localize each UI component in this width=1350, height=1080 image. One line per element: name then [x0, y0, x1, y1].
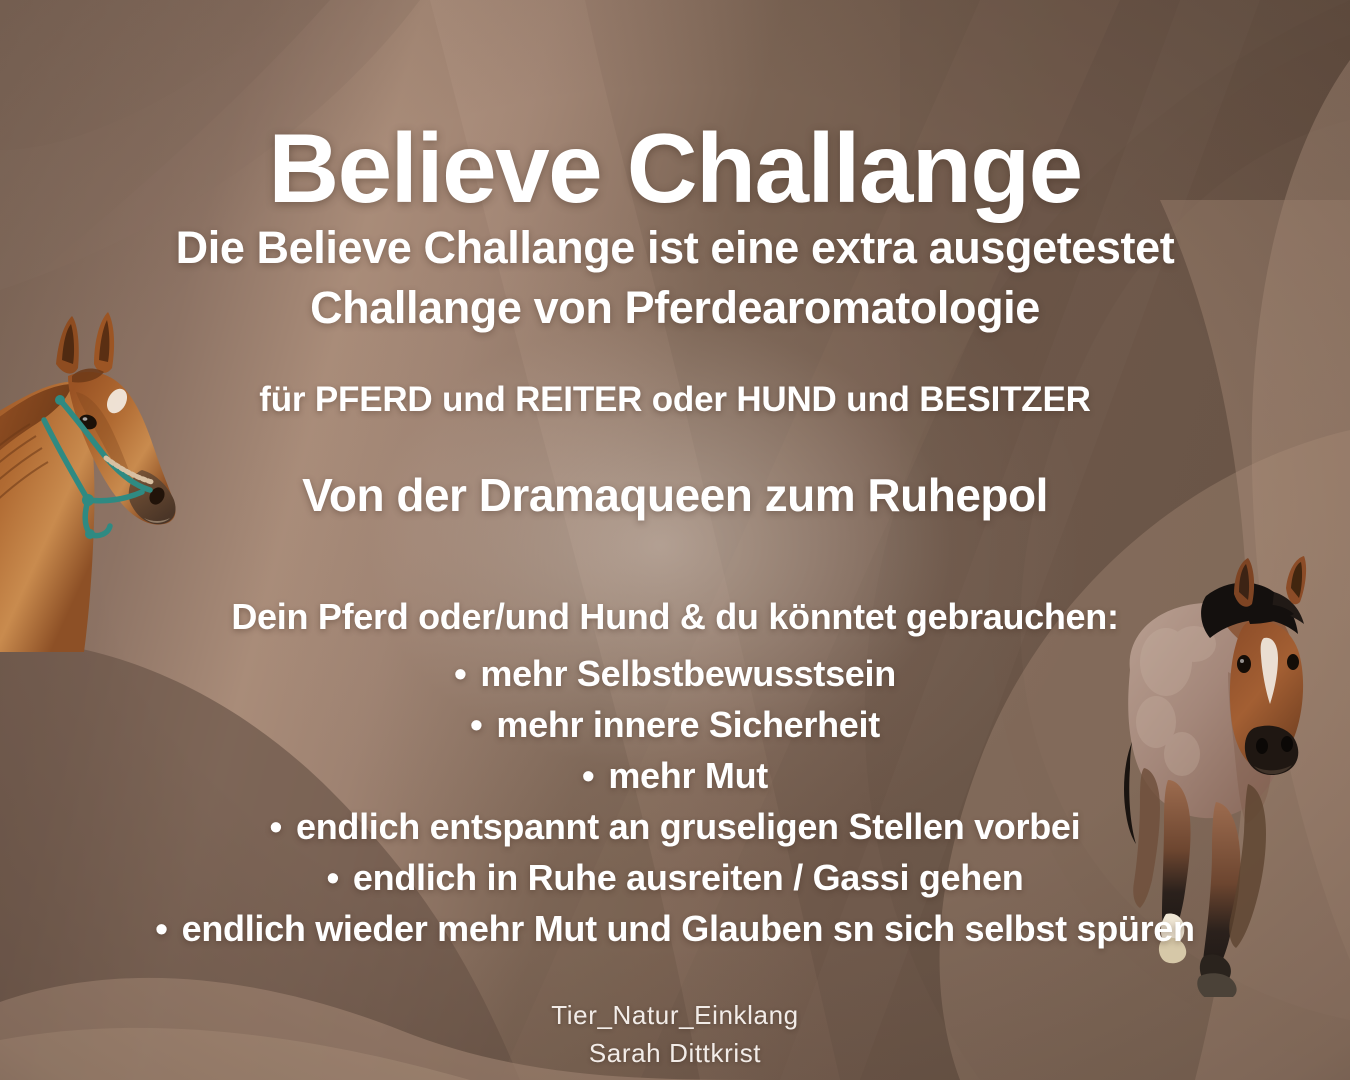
bullet-icon: • — [582, 750, 594, 801]
poster-footer: Tier_Natur_Einklang Sarah Dittkrist — [0, 996, 1350, 1072]
tagline: Von der Dramaqueen zum Ruhepol — [60, 468, 1290, 522]
poster-content: Believe Challange Die Believe Challange … — [0, 0, 1350, 1080]
subtitle-line-1: Die Believe Challange ist eine extra aus… — [72, 218, 1278, 278]
list-item: •mehr Selbstbewusstsein — [0, 648, 1350, 699]
author-name: Sarah Dittkrist — [0, 1034, 1350, 1072]
poster-canvas: Believe Challange Die Believe Challange … — [0, 0, 1350, 1080]
list-item-label: mehr innere Sicherheit — [496, 704, 880, 745]
bullet-icon: • — [454, 648, 466, 699]
poster-subtitle: Die Believe Challange ist eine extra aus… — [72, 218, 1278, 339]
list-item-label: endlich entspannt an gruseligen Stellen … — [296, 806, 1080, 847]
benefits-list: •mehr Selbstbewusstsein •mehr innere Sic… — [0, 648, 1350, 954]
bullet-icon: • — [270, 801, 282, 852]
list-item: •endlich wieder mehr Mut und Glauben sn … — [0, 903, 1350, 954]
list-item-label: endlich wieder mehr Mut und Glauben sn s… — [182, 908, 1195, 949]
audience-line: für PFERD und REITER oder HUND und BESIT… — [60, 380, 1290, 420]
bullet-icon: • — [470, 699, 482, 750]
list-item: •endlich in Ruhe ausreiten / Gassi gehen — [0, 852, 1350, 903]
brand-name: Tier_Natur_Einklang — [0, 996, 1350, 1034]
list-item: •mehr innere Sicherheit — [0, 699, 1350, 750]
list-item-label: mehr Selbstbewusstsein — [480, 653, 896, 694]
bullet-icon: • — [327, 852, 339, 903]
subtitle-line-2: Challange von Pferdearomatologie — [72, 278, 1278, 338]
bullet-icon: • — [155, 903, 167, 954]
list-item-label: mehr Mut — [608, 755, 768, 796]
list-item: •mehr Mut — [0, 750, 1350, 801]
list-item: •endlich entspannt an gruseligen Stellen… — [0, 801, 1350, 852]
list-item-label: endlich in Ruhe ausreiten / Gassi gehen — [353, 857, 1023, 898]
benefits-list-heading: Dein Pferd oder/und Hund & du könntet ge… — [40, 596, 1310, 638]
page-title: Believe Challange — [0, 118, 1350, 220]
